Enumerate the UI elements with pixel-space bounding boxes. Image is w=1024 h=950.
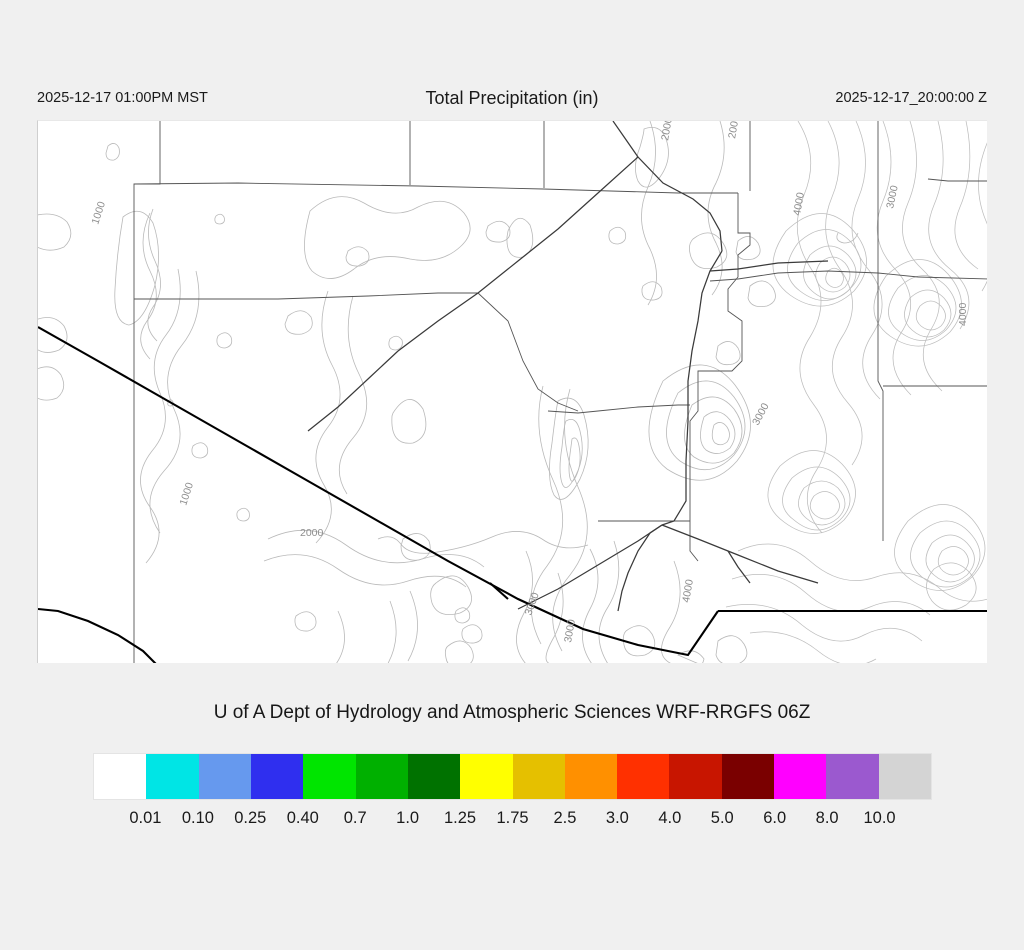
colorbar-tick-6.0: 6.0 <box>763 809 786 828</box>
colorbar-swatch-7[interactable] <box>460 754 512 799</box>
attribution-caption: U of A Dept of Hydrology and Atmospheric… <box>0 702 1024 724</box>
colorbar-swatch-15[interactable] <box>879 754 931 799</box>
colorbar-swatches[interactable] <box>93 753 932 800</box>
colorbar-tick-0.10: 0.10 <box>182 809 214 828</box>
colorbar-tick-1.75: 1.75 <box>496 809 528 828</box>
state-boundary <box>308 121 828 611</box>
colorbar-swatch-4[interactable] <box>303 754 355 799</box>
contour-label-2000-4: 2000 <box>726 121 742 140</box>
contour-label-4000-10: 4000 <box>680 578 696 603</box>
contour-label-1000-1: 1000 <box>177 481 196 507</box>
map-canvas: 1000100020002000200030003000300030004000… <box>38 121 987 663</box>
precipitation-map[interactable]: 1000100020002000200030003000300030004000… <box>37 120 987 663</box>
colorbar-tick-0.25: 0.25 <box>234 809 266 828</box>
contour-label-2000-2: 2000 <box>300 527 324 539</box>
contour-label-4000-9: 4000 <box>791 191 807 216</box>
colorbar-tick-4.0: 4.0 <box>658 809 681 828</box>
colorbar-swatch-5[interactable] <box>356 754 408 799</box>
colorbar-tick-0.7: 0.7 <box>344 809 367 828</box>
colorbar-swatch-8[interactable] <box>513 754 565 799</box>
colorbar-swatch-2[interactable] <box>199 754 251 799</box>
colorbar-tick-3.0: 3.0 <box>606 809 629 828</box>
precipitation-colorbar[interactable]: 0.010.100.250.400.71.01.251.752.53.04.05… <box>93 753 932 839</box>
colorbar-swatch-13[interactable] <box>774 754 826 799</box>
colorbar-swatch-10[interactable] <box>617 754 669 799</box>
colorbar-tick-1.25: 1.25 <box>444 809 476 828</box>
contour-labels: 1000100020002000200030003000300030004000… <box>89 121 969 644</box>
contour-label-3000-5: 3000 <box>523 591 542 617</box>
contour-label-3000-6: 3000 <box>562 618 578 643</box>
map-header: 2025-12-17 01:00PM MST Total Precipitati… <box>0 88 1024 114</box>
colorbar-tick-10.0: 10.0 <box>864 809 896 828</box>
valid-time-label: 2025-12-17_20:00:00 Z <box>835 90 987 106</box>
colorbar-tick-0.01: 0.01 <box>129 809 161 828</box>
colorbar-tick-2.5: 2.5 <box>553 809 576 828</box>
contour-label-4000-11: 4000 <box>957 302 969 326</box>
contour-label-2000-3: 2000 <box>659 121 675 142</box>
elevation-contours <box>38 121 987 663</box>
colorbar-swatch-9[interactable] <box>565 754 617 799</box>
colorbar-tick-8.0: 8.0 <box>816 809 839 828</box>
colorbar-tick-0.40: 0.40 <box>287 809 319 828</box>
contour-label-1000-0: 1000 <box>89 200 108 226</box>
colorbar-tick-1.0: 1.0 <box>396 809 419 828</box>
contour-label-3000-8: 3000 <box>884 184 901 209</box>
colorbar-swatch-0[interactable] <box>94 754 146 799</box>
colorbar-swatch-3[interactable] <box>251 754 303 799</box>
contour-label-3000-7: 3000 <box>750 401 772 427</box>
colorbar-swatch-6[interactable] <box>408 754 460 799</box>
colorbar-swatch-14[interactable] <box>826 754 878 799</box>
colorbar-swatch-12[interactable] <box>722 754 774 799</box>
colorbar-swatch-1[interactable] <box>146 754 198 799</box>
colorbar-tick-labels: 0.010.100.250.400.71.01.251.752.53.04.05… <box>93 809 932 839</box>
colorbar-tick-5.0: 5.0 <box>711 809 734 828</box>
colorbar-swatch-11[interactable] <box>669 754 721 799</box>
